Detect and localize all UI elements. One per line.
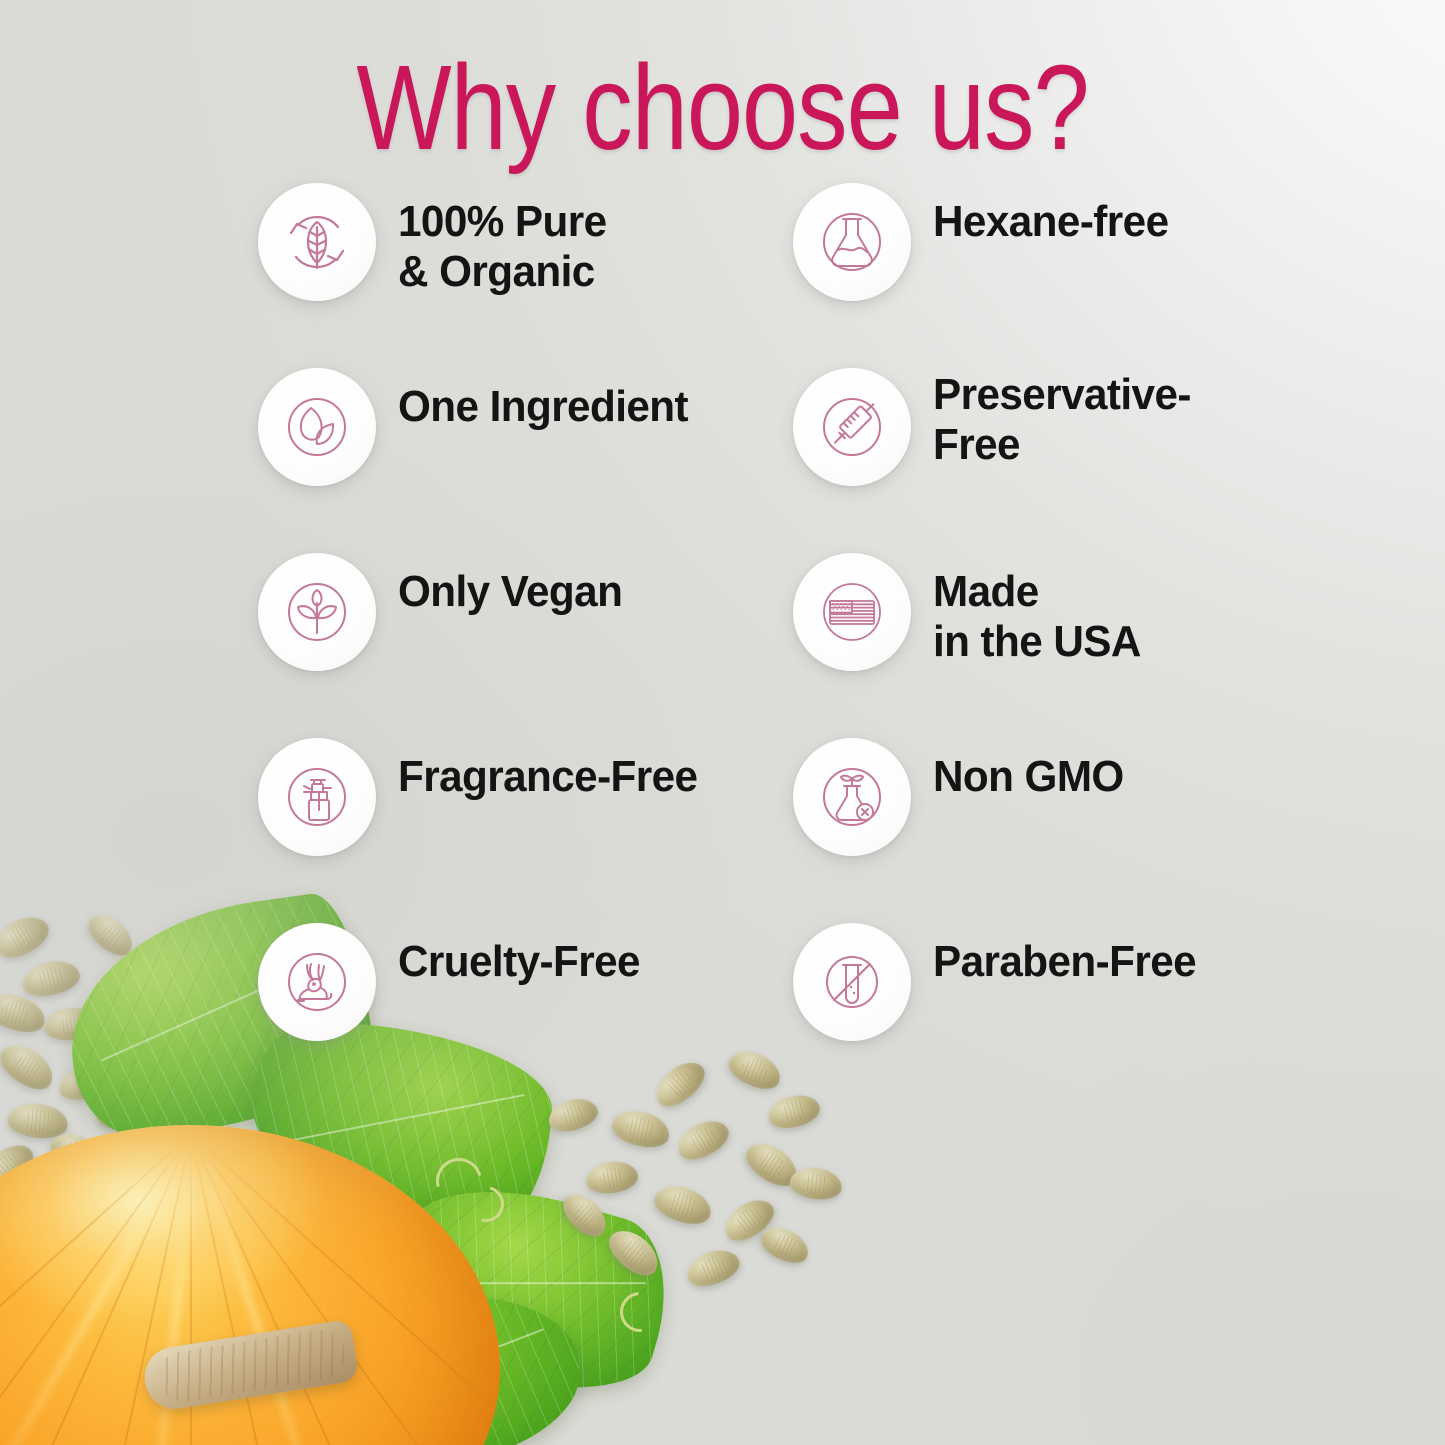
pumpkin-seed <box>609 1105 674 1152</box>
rabbit-icon <box>258 923 376 1041</box>
pumpkin-seed <box>682 1244 744 1293</box>
sprout-icon <box>258 553 376 671</box>
pumpkin <box>0 1125 500 1445</box>
pumpkin-stem <box>140 1319 359 1413</box>
vine-tendril <box>612 1284 668 1340</box>
feature-label: 100% Pure & Organic <box>398 197 607 297</box>
feature-label: Hexane-free <box>933 197 1169 247</box>
page-title: Why choose us? <box>22 46 1424 173</box>
vine-tendril <box>461 1179 510 1228</box>
pumpkin-seed <box>557 1187 614 1243</box>
feature-label: Made in the USA <box>933 567 1141 667</box>
feature-label-line1: Paraben-Free <box>933 937 1196 987</box>
feature-label-line1: Preservative- <box>933 370 1191 420</box>
feature-item-one-ingredient[interactable]: One Ingredient <box>258 368 793 553</box>
feature-item-only-vegan[interactable]: Only Vegan <box>258 553 793 738</box>
feature-label: Fragrance-Free <box>398 752 697 802</box>
feature-item-cruelty-free[interactable]: Cruelty-Free <box>258 923 793 1108</box>
feature-label-line1: Made <box>933 567 1141 617</box>
pumpkin-seed <box>602 1222 666 1283</box>
pumpkin-seed <box>672 1113 735 1167</box>
promo-graphic: Why choose us? 100% Pure & O <box>0 0 1445 1445</box>
feature-label-line1: Non GMO <box>933 752 1124 802</box>
feature-label-line1: 100% Pure <box>398 197 607 247</box>
feature-label: Cruelty-Free <box>398 937 640 987</box>
pumpkin-seed <box>0 1136 40 1196</box>
feature-label: Paraben-Free <box>933 937 1196 987</box>
feature-label-line2: & Organic <box>398 247 607 297</box>
vine-tendril <box>428 1150 491 1213</box>
flask-icon <box>793 183 911 301</box>
pumpkin-seed <box>650 1180 716 1230</box>
test-tube-no-icon <box>793 923 911 1041</box>
pumpkin-leaf <box>243 1286 587 1445</box>
feature-item-non-gmo[interactable]: Non GMO <box>793 738 1328 923</box>
recycle-leaf-icon <box>258 183 376 301</box>
syringe-icon <box>793 368 911 486</box>
pumpkin-seed <box>788 1165 844 1203</box>
pumpkin-seed <box>756 1221 814 1270</box>
feature-label-line1: Only Vegan <box>398 567 622 617</box>
feature-item-paraben-free[interactable]: Paraben-Free <box>793 923 1328 1108</box>
gmo-flask-x-icon <box>793 738 911 856</box>
pumpkin-leaf <box>377 1163 686 1418</box>
pumpkin-seed <box>46 1127 106 1175</box>
feature-label-line1: Cruelty-Free <box>398 937 640 987</box>
two-seeds-icon <box>258 368 376 486</box>
pumpkin-seed <box>718 1192 781 1249</box>
usa-flag-icon <box>793 553 911 671</box>
feature-label: One Ingredient <box>398 382 688 432</box>
pumpkin-seed <box>584 1159 640 1197</box>
feature-item-made-in-usa[interactable]: Made in the USA <box>793 553 1328 738</box>
feature-item-preservative-free[interactable]: Preservative- Free <box>793 368 1328 553</box>
pumpkin-seed <box>740 1135 805 1194</box>
feature-item-pure-organic[interactable]: 100% Pure & Organic <box>258 183 793 368</box>
feature-label: Non GMO <box>933 752 1124 802</box>
feature-label: Preservative- Free <box>933 370 1191 470</box>
feature-label-line1: Hexane-free <box>933 197 1169 247</box>
feature-label-line2: Free <box>933 420 1191 470</box>
feature-list: 100% Pure & Organic Hexane-free <box>0 183 1445 1108</box>
feature-label-line2: in the USA <box>933 617 1141 667</box>
spray-bottle-icon <box>258 738 376 856</box>
feature-label: Only Vegan <box>398 567 622 617</box>
feature-label-line1: One Ingredient <box>398 382 688 432</box>
feature-label-line1: Fragrance-Free <box>398 752 697 802</box>
feature-item-hexane-free[interactable]: Hexane-free <box>793 183 1328 368</box>
feature-item-fragrance-free[interactable]: Fragrance-Free <box>258 738 793 923</box>
